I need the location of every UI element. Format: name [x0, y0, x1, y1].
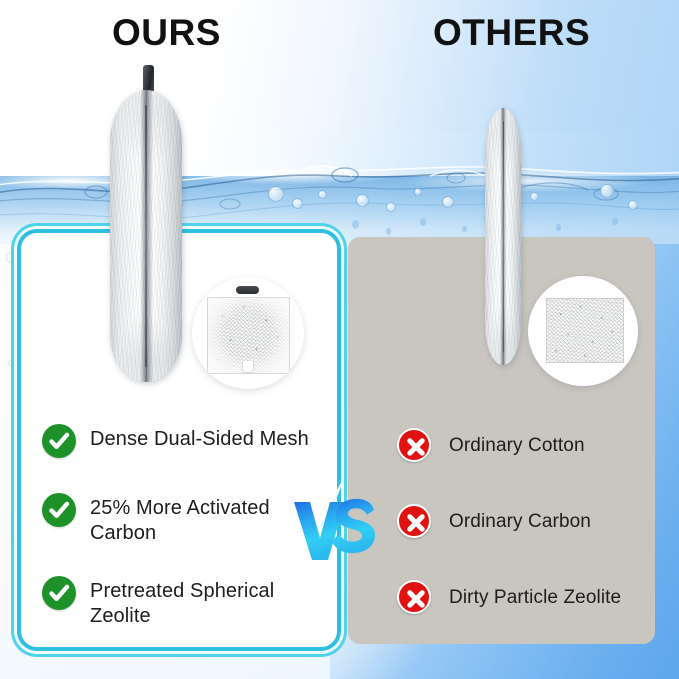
water-droplet: [612, 218, 618, 225]
cross-circle-icon: [397, 580, 431, 614]
water-droplet: [556, 224, 561, 231]
water-bubble: [628, 200, 638, 210]
cross-circle-icon: [397, 504, 431, 538]
ours-pad-clip-icon: [236, 286, 259, 294]
water-splash-background: [0, 132, 679, 244]
ours-inset-closeup: [192, 277, 304, 389]
water-droplet: [352, 220, 359, 229]
cross-circle-icon: [397, 428, 431, 462]
list-item-label: Ordinary Cotton: [449, 428, 585, 458]
water-bubble: [414, 188, 422, 196]
water-bubble: [600, 184, 614, 198]
page-title-ours: OURS: [112, 12, 221, 54]
ours-product-image: [110, 90, 182, 382]
water-bubble: [386, 202, 396, 212]
list-item: Pretreated Spherical Zeolite: [42, 576, 330, 629]
vs-letter-s: [332, 499, 375, 553]
cartridge-seam: [503, 121, 504, 352]
water-droplet: [462, 226, 467, 232]
list-item-label: Pretreated Spherical Zeolite: [90, 576, 330, 629]
check-circle-icon: [42, 424, 76, 458]
water-bubble: [530, 192, 539, 201]
water-bubble: [268, 186, 284, 202]
page-title-others: OTHERS: [433, 12, 590, 54]
water-bubble: [356, 194, 369, 207]
background-bubble: [6, 252, 17, 263]
list-item: 25% More Activated Carbon: [42, 493, 330, 546]
water-droplet: [386, 228, 391, 235]
vs-lightning-icon: [288, 480, 384, 572]
list-item-label: Dirty Particle Zeolite: [449, 580, 621, 610]
list-item-label: Ordinary Carbon: [449, 504, 591, 534]
list-item-label: Dense Dual-Sided Mesh: [90, 424, 309, 452]
others-inset-closeup: [528, 276, 638, 386]
water-wave-lines: [0, 132, 679, 244]
others-filter-pad: [546, 298, 624, 363]
list-item: Dense Dual-Sided Mesh: [42, 424, 309, 458]
comparison-infographic: OURS OTHERS Den: [0, 0, 679, 679]
water-bubble: [442, 196, 454, 208]
check-circle-icon: [42, 493, 76, 527]
others-product-image: [485, 108, 521, 365]
ours-pad-notch: [242, 361, 254, 373]
check-circle-icon: [42, 576, 76, 610]
cartridge-seam: [145, 105, 147, 368]
list-item: Ordinary Cotton: [397, 428, 585, 462]
water-bubble: [318, 190, 327, 199]
background-bubble: [8, 360, 14, 366]
list-item: Ordinary Carbon: [397, 504, 591, 538]
water-bubble: [292, 198, 303, 209]
list-item: Dirty Particle Zeolite: [397, 580, 621, 614]
others-pad-texture: [547, 299, 623, 362]
water-droplet: [420, 218, 426, 226]
